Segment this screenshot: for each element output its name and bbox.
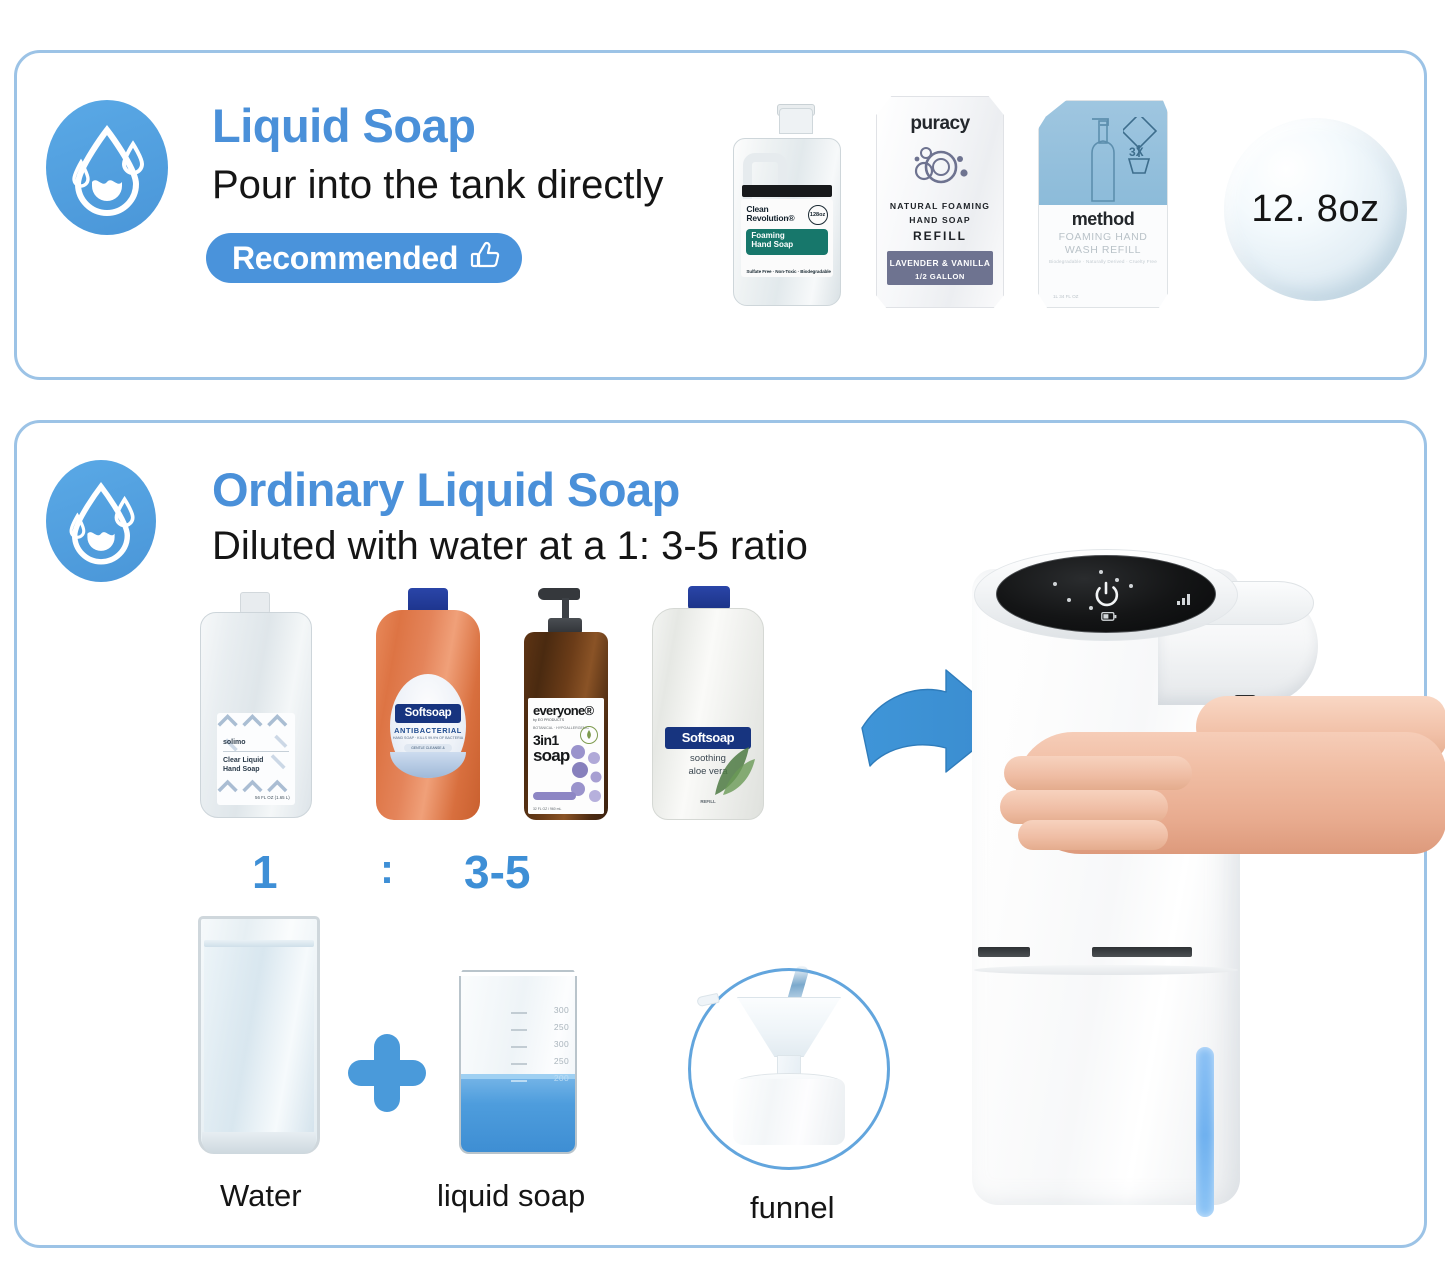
bottle-neck [240, 592, 270, 614]
bottle-body: Softsoap soothing aloe vera REFILL [652, 608, 764, 820]
bottle-solimo-clear: solimo Clear Liquid Hand Soap 56 FL OZ (… [196, 592, 316, 818]
water-droplet-icon [46, 460, 156, 582]
infographic-root: Liquid Soap Pour into the tank directly … [0, 0, 1445, 1263]
power-icon[interactable] [1093, 581, 1119, 607]
indicator-dot [1067, 598, 1071, 602]
tank-body [733, 1079, 845, 1145]
softsoap-variant: ANTIBACTERIAL [390, 726, 466, 735]
pump-head [538, 588, 580, 600]
battery-icon[interactable] [1101, 609, 1117, 620]
indicator-dot [1089, 606, 1093, 610]
band-segment [1092, 947, 1192, 957]
bottle-body: solimo Clear Liquid Hand Soap 56 FL OZ (… [200, 612, 312, 818]
dispenser-lower-lip [974, 965, 1238, 975]
graduation-label: 300 [554, 1005, 569, 1015]
jug-footer: Sulfate Free · Non-Toxic · Biodegradable [746, 269, 830, 274]
softsoap-fine-print: HAND SOAP · KILLS 99.9% OF BACTERIA [390, 736, 466, 740]
funnel-icon [688, 968, 890, 1170]
graduation-label: 200 [554, 1073, 569, 1083]
bottle-softsoap-antibacterial: Softsoap ANTIBACTERIAL HAND SOAP · KILLS… [370, 588, 486, 820]
method-3x-badge: 3X [1123, 117, 1157, 177]
indicator-dot [1115, 578, 1119, 582]
method-line-1: FOAMING HAND [1039, 231, 1167, 243]
aloe-leaf-icon [709, 741, 757, 797]
soap-level-indicator [1196, 1047, 1214, 1217]
subtitle-dilution-ratio: Diluted with water at a 1: 3-5 ratio [212, 524, 808, 569]
method-line-2: WASH REFILL [1039, 244, 1167, 256]
everyone-brand: everyone® [533, 703, 593, 718]
graduation-label: 250 [554, 1022, 569, 1032]
dispenser-touch-panel[interactable] [996, 555, 1216, 633]
caption-funnel: funnel [750, 1190, 834, 1226]
dispenser-separator-band [972, 947, 1240, 963]
beaker-graduations: 300 250 300 250 200 [511, 1004, 569, 1089]
softsoap-brand: Softsoap [395, 704, 461, 723]
ratio-colon: : [380, 845, 394, 893]
glass-water-fill [204, 942, 314, 1142]
softsoap-wave-graphic [390, 752, 466, 778]
hand-finger [1018, 820, 1168, 850]
puracy-brand: puracy [877, 113, 1003, 135]
recommended-label: Recommended [232, 240, 458, 277]
puracy-line-3: REFILL [877, 229, 1003, 243]
water-glass-icon [198, 916, 320, 1154]
capacity-label: 12. 8oz [1251, 188, 1379, 231]
solimo-l1: Clear Liquid [223, 757, 263, 764]
jug-volume-badge: 128oz [808, 205, 828, 225]
puracy-size: 1/2 GALLON [887, 268, 993, 281]
glass-water-surface [204, 940, 314, 947]
indicator-dot [1099, 570, 1103, 574]
product-method: 3X method FOAMING HAND WASH REFILL Biode… [1038, 100, 1168, 308]
indicator-dot [1053, 582, 1057, 586]
pouch-body: puracy NATURAL FOAMING HAND SOAP REFILL … [876, 96, 1004, 308]
everyone-by: by EO PRODUCTS [533, 718, 564, 722]
bottle-everyone-3in1: everyone® by EO PRODUCTS BOTANICAL · HYP… [518, 588, 614, 820]
plus-icon [348, 1034, 426, 1112]
puracy-line-2: HAND SOAP [877, 215, 1003, 225]
bottle-cap [688, 586, 730, 610]
graduation-label: 300 [554, 1039, 569, 1049]
ratio-left-value: 1 [252, 845, 278, 899]
jug-label: Clean Revolution® 128oz Foaming Hand Soa… [741, 199, 832, 277]
bottle-softsoap-aloe: Softsoap soothing aloe vera REFILL [648, 586, 768, 820]
label-rule [223, 751, 289, 752]
hand-finger [1000, 790, 1168, 824]
softsoap-aloe-refill: REFILL [653, 799, 763, 804]
solimo-line-1: Clear Liquid Hand Soap [223, 757, 263, 775]
hand-finger [1004, 756, 1192, 790]
bottle-label: solimo Clear Liquid Hand Soap 56 FL OZ (… [217, 713, 295, 805]
everyone-line-2: soap [533, 748, 569, 764]
everyone-scent-bar [533, 792, 576, 800]
volume-level-icon[interactable] [1177, 592, 1193, 603]
pump-stem [562, 598, 569, 620]
method-pump-graphic [1086, 111, 1120, 203]
puracy-swirl-graphic [909, 141, 971, 189]
beaker-icon: 300 250 300 250 200 [455, 962, 581, 1154]
everyone-volume: 32 FL OZ / 960 mL [533, 807, 561, 811]
puracy-variant-box: LAVENDER & VANILLA 1/2 GALLON [887, 251, 993, 285]
indicator-dot [1129, 584, 1133, 588]
band-segment [978, 947, 1030, 957]
method-3x-label: 3X [1129, 145, 1144, 159]
caption-liquid-soap: liquid soap [437, 1178, 585, 1214]
jug-green-block: Foaming Hand Soap [746, 229, 827, 255]
puracy-line-1: NATURAL FOAMING [877, 201, 1003, 211]
graduation-mark: 250 [511, 1021, 569, 1038]
solimo-volume: 56 FL OZ (1.65 L) [255, 795, 290, 800]
jug-top-band [742, 185, 831, 197]
recommended-badge: Recommended [206, 233, 522, 283]
bottle-body: everyone® by EO PRODUCTS BOTANICAL · HYP… [524, 632, 608, 820]
glass-base [202, 1132, 316, 1154]
ratio-right-value: 3-5 [464, 845, 530, 899]
capacity-bubble-badge: 12. 8oz [1224, 118, 1407, 301]
everyone-seal-icon [580, 726, 598, 744]
graduation-mark: 300 [511, 1038, 569, 1055]
page-title-ordinary-liquid-soap: Ordinary Liquid Soap [212, 462, 680, 517]
green-line-2: Hand Soap [751, 240, 793, 249]
product-puracy: puracy NATURAL FOAMING HAND SOAP REFILL … [876, 96, 1004, 308]
graduation-label: 250 [554, 1056, 569, 1066]
water-droplet-icon [46, 100, 168, 235]
jug-body: Clean Revolution® 128oz Foaming Hand Soa… [733, 138, 841, 306]
method-fine-print: Biodegradable · Naturally Derived · Crue… [1039, 259, 1167, 264]
bottle-label: everyone® by EO PRODUCTS BOTANICAL · HYP… [528, 698, 604, 814]
brand-line-2: Revolution® [746, 213, 794, 223]
solimo-l2: Hand Soap [223, 766, 260, 773]
solimo-brand: solimo [223, 739, 246, 746]
caption-water: Water [220, 1178, 302, 1214]
puracy-variant: LAVENDER & VANILLA [887, 251, 993, 268]
open-hand-icon [1000, 690, 1445, 860]
graduation-mark: 200 [511, 1072, 569, 1089]
graduation-mark: 300 [511, 1004, 569, 1021]
bottle-cap [408, 588, 448, 612]
softsoap-claim-pill: GENTLE CLEANSE & PROTECTS [404, 744, 452, 752]
bottle-body: Softsoap ANTIBACTERIAL HAND SOAP · KILLS… [376, 610, 480, 820]
beaker-glass: 300 250 300 250 200 [459, 976, 577, 1154]
thumbs-up-icon [470, 241, 500, 275]
page-title-liquid-soap: Liquid Soap [212, 98, 475, 153]
method-brand: method [1039, 209, 1167, 230]
method-volume: 1L 34 FL OZ [1053, 294, 1078, 299]
bottle-label-oval: Softsoap ANTIBACTERIAL HAND SOAP · KILLS… [390, 674, 466, 778]
green-line-1: Foaming [751, 231, 784, 240]
funnel-cone [737, 997, 841, 1057]
product-clean-revolution: Clean Revolution® 128oz Foaming Hand Soa… [733, 108, 841, 306]
jug-neck [779, 108, 813, 134]
plus-vertical [374, 1034, 400, 1112]
method-pouch-body: 3X method FOAMING HAND WASH REFILL Biode… [1038, 100, 1168, 308]
graduation-mark: 250 [511, 1055, 569, 1072]
subtitle-liquid-soap: Pour into the tank directly [212, 163, 663, 208]
